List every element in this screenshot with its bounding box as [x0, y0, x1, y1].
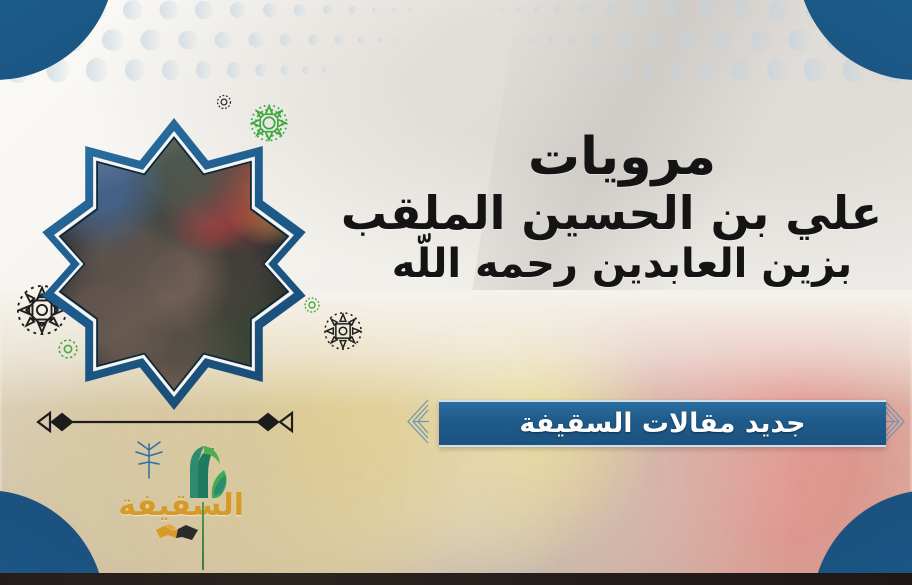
status-banner-label: جديد مقالات السقيفة [519, 408, 805, 439]
title-line-2: علي بن الحسين الملقب [362, 188, 882, 240]
title-line-1: مرويات [362, 128, 882, 186]
logo-stem [202, 502, 204, 570]
sparkle-icon [132, 438, 166, 482]
eight-point-star-frame [28, 118, 320, 410]
handshake-icon [154, 520, 200, 546]
page-title: مرويات علي بن الحسين الملقب بزين العابدي… [362, 128, 882, 287]
banner-cap-left-icon [404, 396, 430, 447]
title-line-3: بزين العابدين رحمه اللّه [362, 242, 882, 287]
bottom-bar [0, 573, 912, 585]
logo-wordmark: السقيفة [132, 488, 244, 523]
site-logo[interactable]: السقيفة [128, 444, 246, 549]
diamond-rule-divider [36, 409, 294, 435]
poster-canvas: مرويات علي بن الحسين الملقب بزين العابدي… [0, 0, 912, 585]
status-banner[interactable]: جديد مقالات السقيفة [439, 400, 886, 447]
